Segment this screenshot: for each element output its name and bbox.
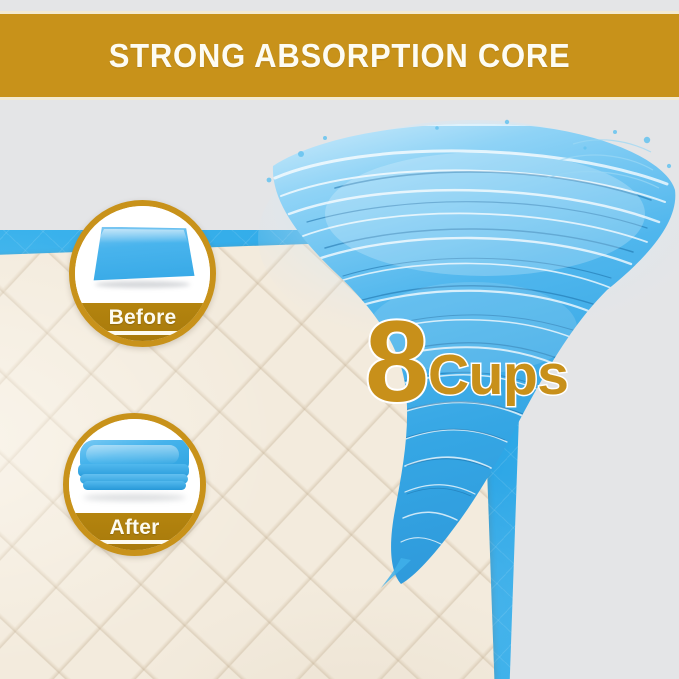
header-banner: STRONG ABSORPTION CORE: [0, 11, 679, 100]
product-scene: 8 Cups Before: [0, 100, 679, 679]
background-mask-right: [508, 100, 679, 679]
badge-before[interactable]: Before: [69, 200, 216, 347]
page-title: STRONG ABSORPTION CORE: [109, 37, 571, 75]
folded-pad-icon: [77, 435, 193, 497]
badge-before-photo: [75, 206, 210, 303]
badge-after-underline: [98, 540, 171, 544]
product-feature-image: 8 Cups Before: [0, 0, 679, 679]
badge-after[interactable]: After: [63, 413, 206, 556]
badge-after-band: After: [69, 513, 200, 550]
flat-pad-icon: [91, 227, 195, 283]
badge-before-band: Before: [75, 303, 210, 341]
header-banner-area: STRONG ABSORPTION CORE: [0, 0, 679, 112]
badge-after-photo: [69, 419, 200, 513]
badge-before-underline: [105, 331, 181, 335]
badge-before-label: Before: [109, 306, 177, 330]
badge-after-label: After: [109, 516, 159, 540]
